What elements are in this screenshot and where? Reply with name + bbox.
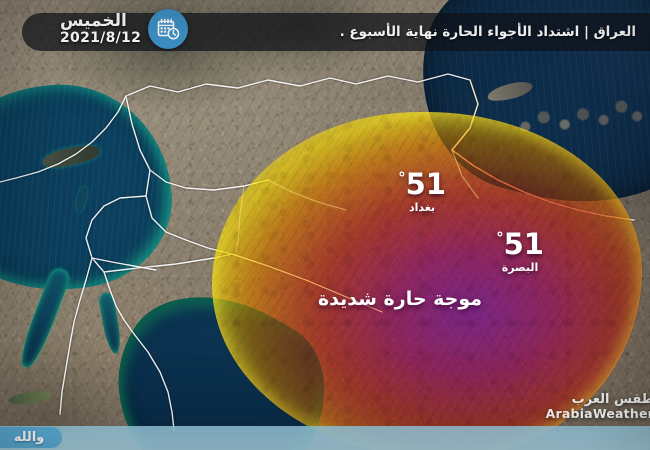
city-name: البصرة xyxy=(470,261,570,274)
footer-tab[interactable]: والله xyxy=(0,427,62,448)
watermark-english: ArabiaWeather xyxy=(546,407,650,420)
date-badge: الخميس 2021/8/12 xyxy=(60,6,188,52)
heat-wave-caption: موجة حارة شديدة xyxy=(300,288,500,310)
weather-map-screenshot: العراق | اشتداد الأجواء الحارة نهاية الأ… xyxy=(0,0,650,450)
footer-tab-label: والله xyxy=(14,430,45,445)
footer-bar: والله xyxy=(0,426,650,450)
temperature-label-basra: 51 ° البصرة xyxy=(470,230,570,274)
city-name: بغداد xyxy=(372,201,472,214)
calendar-clock-icon xyxy=(148,9,188,49)
temperature-label-baghdad: 51 ° بغداد xyxy=(372,170,472,214)
temperature-reading: 51 ° xyxy=(470,230,570,259)
temperature-reading: 51 ° xyxy=(372,170,472,199)
date-text-group: الخميس 2021/8/12 xyxy=(60,13,141,45)
degree-symbol: ° xyxy=(496,231,504,246)
temperature-value: 51 xyxy=(406,170,446,199)
temperature-value: 51 xyxy=(504,230,544,259)
watermark: طقس العرب ArabiaWeather xyxy=(546,393,650,420)
page-title: العراق | اشتداد الأجواء الحارة نهاية الأ… xyxy=(340,24,636,40)
borders-inside-heat-zone xyxy=(0,0,650,450)
watermark-arabic: طقس العرب xyxy=(546,393,650,407)
date-value: 2021/8/12 xyxy=(60,31,141,45)
day-name: الخميس xyxy=(60,13,127,30)
degree-symbol: ° xyxy=(398,171,406,186)
